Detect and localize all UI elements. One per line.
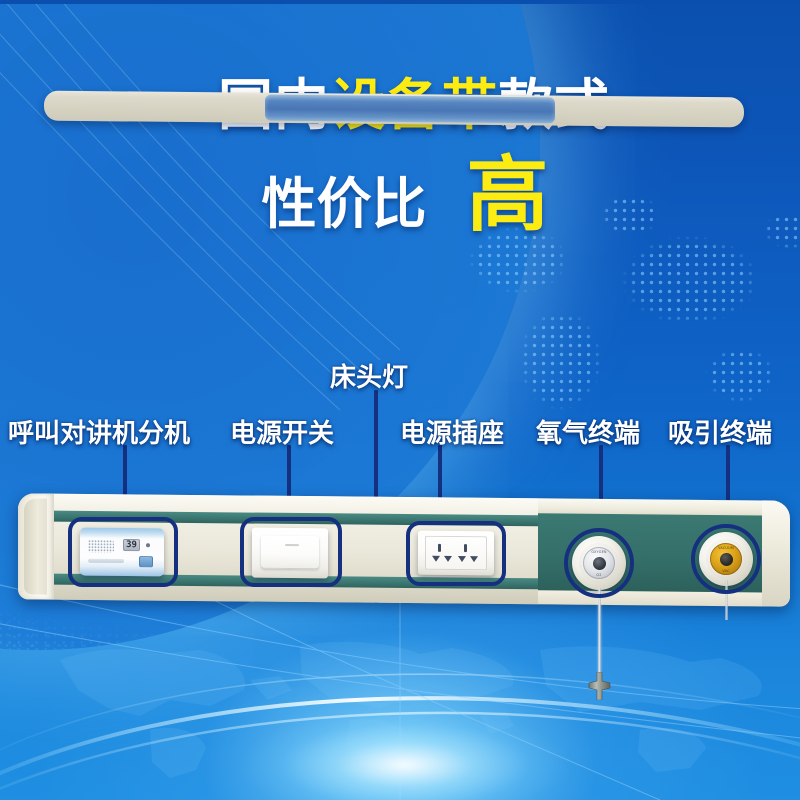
panel-right-endcap <box>762 500 790 606</box>
headline-line-2: 性价比高 <box>0 155 800 237</box>
bottom-horizon-glow <box>190 690 620 800</box>
pull-cord-cross-handle[interactable] <box>588 672 611 700</box>
highlight-box-power-socket <box>406 521 506 586</box>
highlight-circle-oxygen <box>564 528 634 598</box>
highlight-circle-suction <box>691 524 761 594</box>
callout-label-power-socket: 电源插座 <box>400 413 504 450</box>
highlight-box-power-switch <box>240 517 342 587</box>
bed-lamp-diffuser-strip <box>265 95 555 124</box>
callout-label-oxygen: 氧气终端 <box>536 413 640 450</box>
panel-green-bottom-lip <box>538 590 790 606</box>
callout-label-bed-lamp: 床头灯 <box>330 357 408 394</box>
panel-left-endcap-inner <box>24 498 47 594</box>
headline-part-gao: 高 <box>467 148 549 243</box>
banner-canvas: 国内设备带款式 性价比高 呼叫对讲机分机 电源开关 床头灯 电源插座 氧气终端 … <box>0 0 800 800</box>
pull-cord[interactable] <box>598 588 601 682</box>
highlight-box-intercom <box>68 517 178 587</box>
callout-label-intercom: 呼叫对讲机分机 <box>8 413 190 450</box>
panel-green-top-lip <box>538 498 790 515</box>
top-edge-bar <box>0 0 800 4</box>
callout-label-suction: 吸引终端 <box>668 413 772 450</box>
callout-label-power-switch: 电源开关 <box>230 413 334 450</box>
headline-part-xingjiabi: 性价比 <box>261 172 426 236</box>
